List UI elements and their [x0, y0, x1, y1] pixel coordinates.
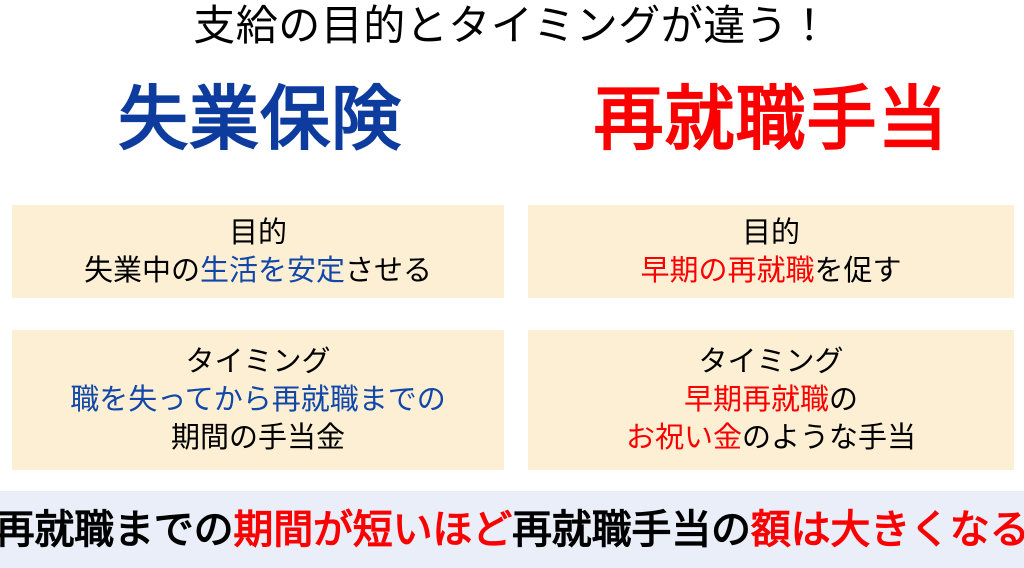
timing-text-right-line3-suffix: のような手当: [742, 420, 916, 454]
summary-seg-2-highlight: 期間が短いほど: [233, 507, 512, 553]
purpose-text-right: 早期の再就職を促す: [640, 252, 901, 290]
column-heading-unemployment-insurance: 失業保険: [12, 84, 508, 154]
timing-text-right-line3-highlight: お祝い金: [626, 420, 742, 454]
timing-text-left-line2: 職を失ってから再就職までの: [70, 381, 446, 419]
purpose-text-left: 失業中の生活を安定させる: [84, 252, 432, 290]
timing-text-right-line2-highlight: 早期再就職: [684, 382, 829, 416]
page-title: 支給の目的とタイミングが違う！: [0, 2, 1024, 49]
timing-box-right: タイミング 早期再就職の お祝い金のような手当: [528, 330, 1014, 470]
purpose-box-right: 目的 早期の再就職を促す: [528, 205, 1014, 298]
purpose-box-left: 目的 失業中の生活を安定させる: [12, 205, 504, 298]
timing-text-right-line2-suffix: の: [829, 382, 858, 416]
purpose-text-right-suffix: を促す: [815, 253, 902, 287]
purpose-label-right: 目的: [742, 214, 800, 252]
timing-box-left: タイミング 職を失ってから再就職までの 期間の手当金: [12, 330, 504, 470]
timing-label-left: タイミング: [185, 343, 330, 381]
purpose-text-left-suffix: させる: [345, 253, 432, 287]
summary-banner: 再就職までの期間が短いほど再就職手当の額は大きくなる: [0, 491, 1024, 568]
purpose-text-left-prefix: 失業中の: [84, 253, 200, 287]
summary-seg-4-highlight: 額は大きくなる: [751, 507, 1024, 553]
summary-banner-text: 再就職までの期間が短いほど再就職手当の額は大きくなる: [0, 510, 1024, 550]
timing-text-right-line2: 早期再就職の: [684, 381, 858, 419]
column-heading-reemployment-allowance: 再就職手当: [528, 84, 1014, 154]
timing-label-right: タイミング: [698, 343, 843, 381]
timing-text-right-line3: お祝い金のような手当: [626, 419, 916, 457]
purpose-text-left-highlight: 生活を安定: [200, 253, 345, 287]
purpose-text-right-highlight: 早期の再就職: [640, 253, 814, 287]
purpose-label-left: 目的: [229, 214, 287, 252]
summary-seg-1: 再就職までの: [0, 507, 233, 553]
summary-seg-3: 再就職手当の: [512, 507, 751, 553]
timing-text-left-line3: 期間の手当金: [171, 419, 345, 457]
